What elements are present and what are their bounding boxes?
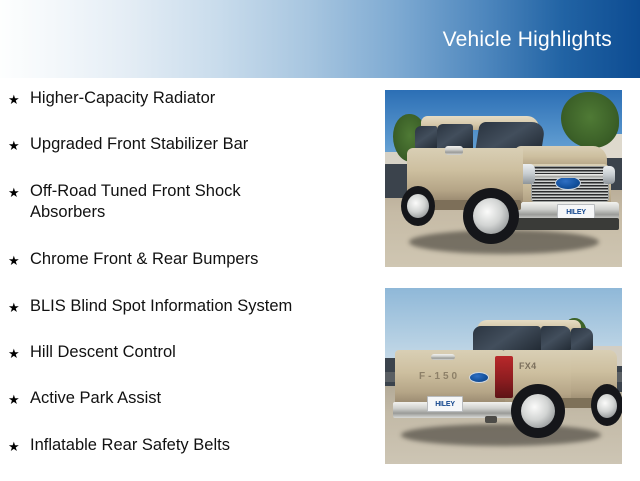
star-bullet-icon: ★ [8,388,28,410]
photo-rear-scene: F-150 FX4 HILEY [385,288,622,464]
vehicle-photo-rear[interactable]: F-150 FX4 HILEY [385,288,622,464]
list-item-label: Higher-Capacity Radiator [28,88,215,109]
list-item-label: Upgraded Front Stabilizer Bar [28,134,248,155]
list-item: ★ Higher-Capacity Radiator [8,88,368,134]
list-item: ★ Inflatable Rear Safety Belts [8,435,368,481]
vehicle-shadow [401,424,601,446]
ford-oval-badge [555,176,581,190]
list-item-label: Chrome Front & Rear Bumpers [28,249,258,270]
air-dam [503,218,619,230]
star-bullet-icon: ★ [8,134,28,156]
list-item-label: Hill Descent Control [28,342,176,363]
front-wheel-rim [473,198,509,234]
list-item-label: Active Park Assist [28,388,161,409]
taillight [495,356,513,398]
tailgate-handle [431,354,455,360]
list-item: ★ Hill Descent Control [8,342,368,388]
rear-wheel-rim [407,194,429,218]
star-bullet-icon: ★ [8,342,28,364]
header-banner: Vehicle Highlights [0,0,640,78]
list-item-label-line2: Absorbers [28,202,241,223]
dealer-plate-text: HILEY [566,209,586,216]
list-item-label-line1: Off-Road Tuned Front Shock [28,181,241,202]
list-item: ★ Chrome Front & Rear Bumpers [8,249,368,295]
headlight-right [603,166,615,184]
tailgate-model-lettering: F-150 [419,372,460,382]
list-item: ★ Upgraded Front Stabilizer Bar [8,134,368,180]
photo-front-scene: HILEY [385,90,622,267]
dealer-plate-text: HILEY [435,401,455,408]
ford-oval-badge [469,372,489,383]
exhaust-tip [485,416,497,423]
side-mirror [445,146,463,155]
vehicle-photo-front[interactable]: HILEY [385,90,622,267]
front-wheel-rim [597,394,617,418]
vehicle-highlights-list: ★ Higher-Capacity Radiator ★ Upgraded Fr… [8,88,368,481]
list-item-label-group: Off-Road Tuned Front Shock Absorbers [28,181,241,223]
list-item-label: BLIS Blind Spot Information System [28,296,292,317]
grille-chrome-bar [531,174,607,178]
star-bullet-icon: ★ [8,249,28,271]
list-item: ★ BLIS Blind Spot Information System [8,296,368,342]
fx4-badge: FX4 [519,362,536,371]
star-bullet-icon: ★ [8,296,28,318]
page-title: Vehicle Highlights [443,28,612,52]
star-bullet-icon: ★ [8,435,28,457]
star-bullet-icon: ★ [8,181,28,203]
background-tree-right [561,92,619,148]
list-item-label: Inflatable Rear Safety Belts [28,435,230,456]
list-item: ★ Active Park Assist [8,388,368,434]
dealer-license-plate: HILEY [427,396,463,412]
rear-wheel-rim [521,394,555,428]
star-bullet-icon: ★ [8,88,28,110]
list-item: ★ Off-Road Tuned Front Shock Absorbers [8,181,368,227]
